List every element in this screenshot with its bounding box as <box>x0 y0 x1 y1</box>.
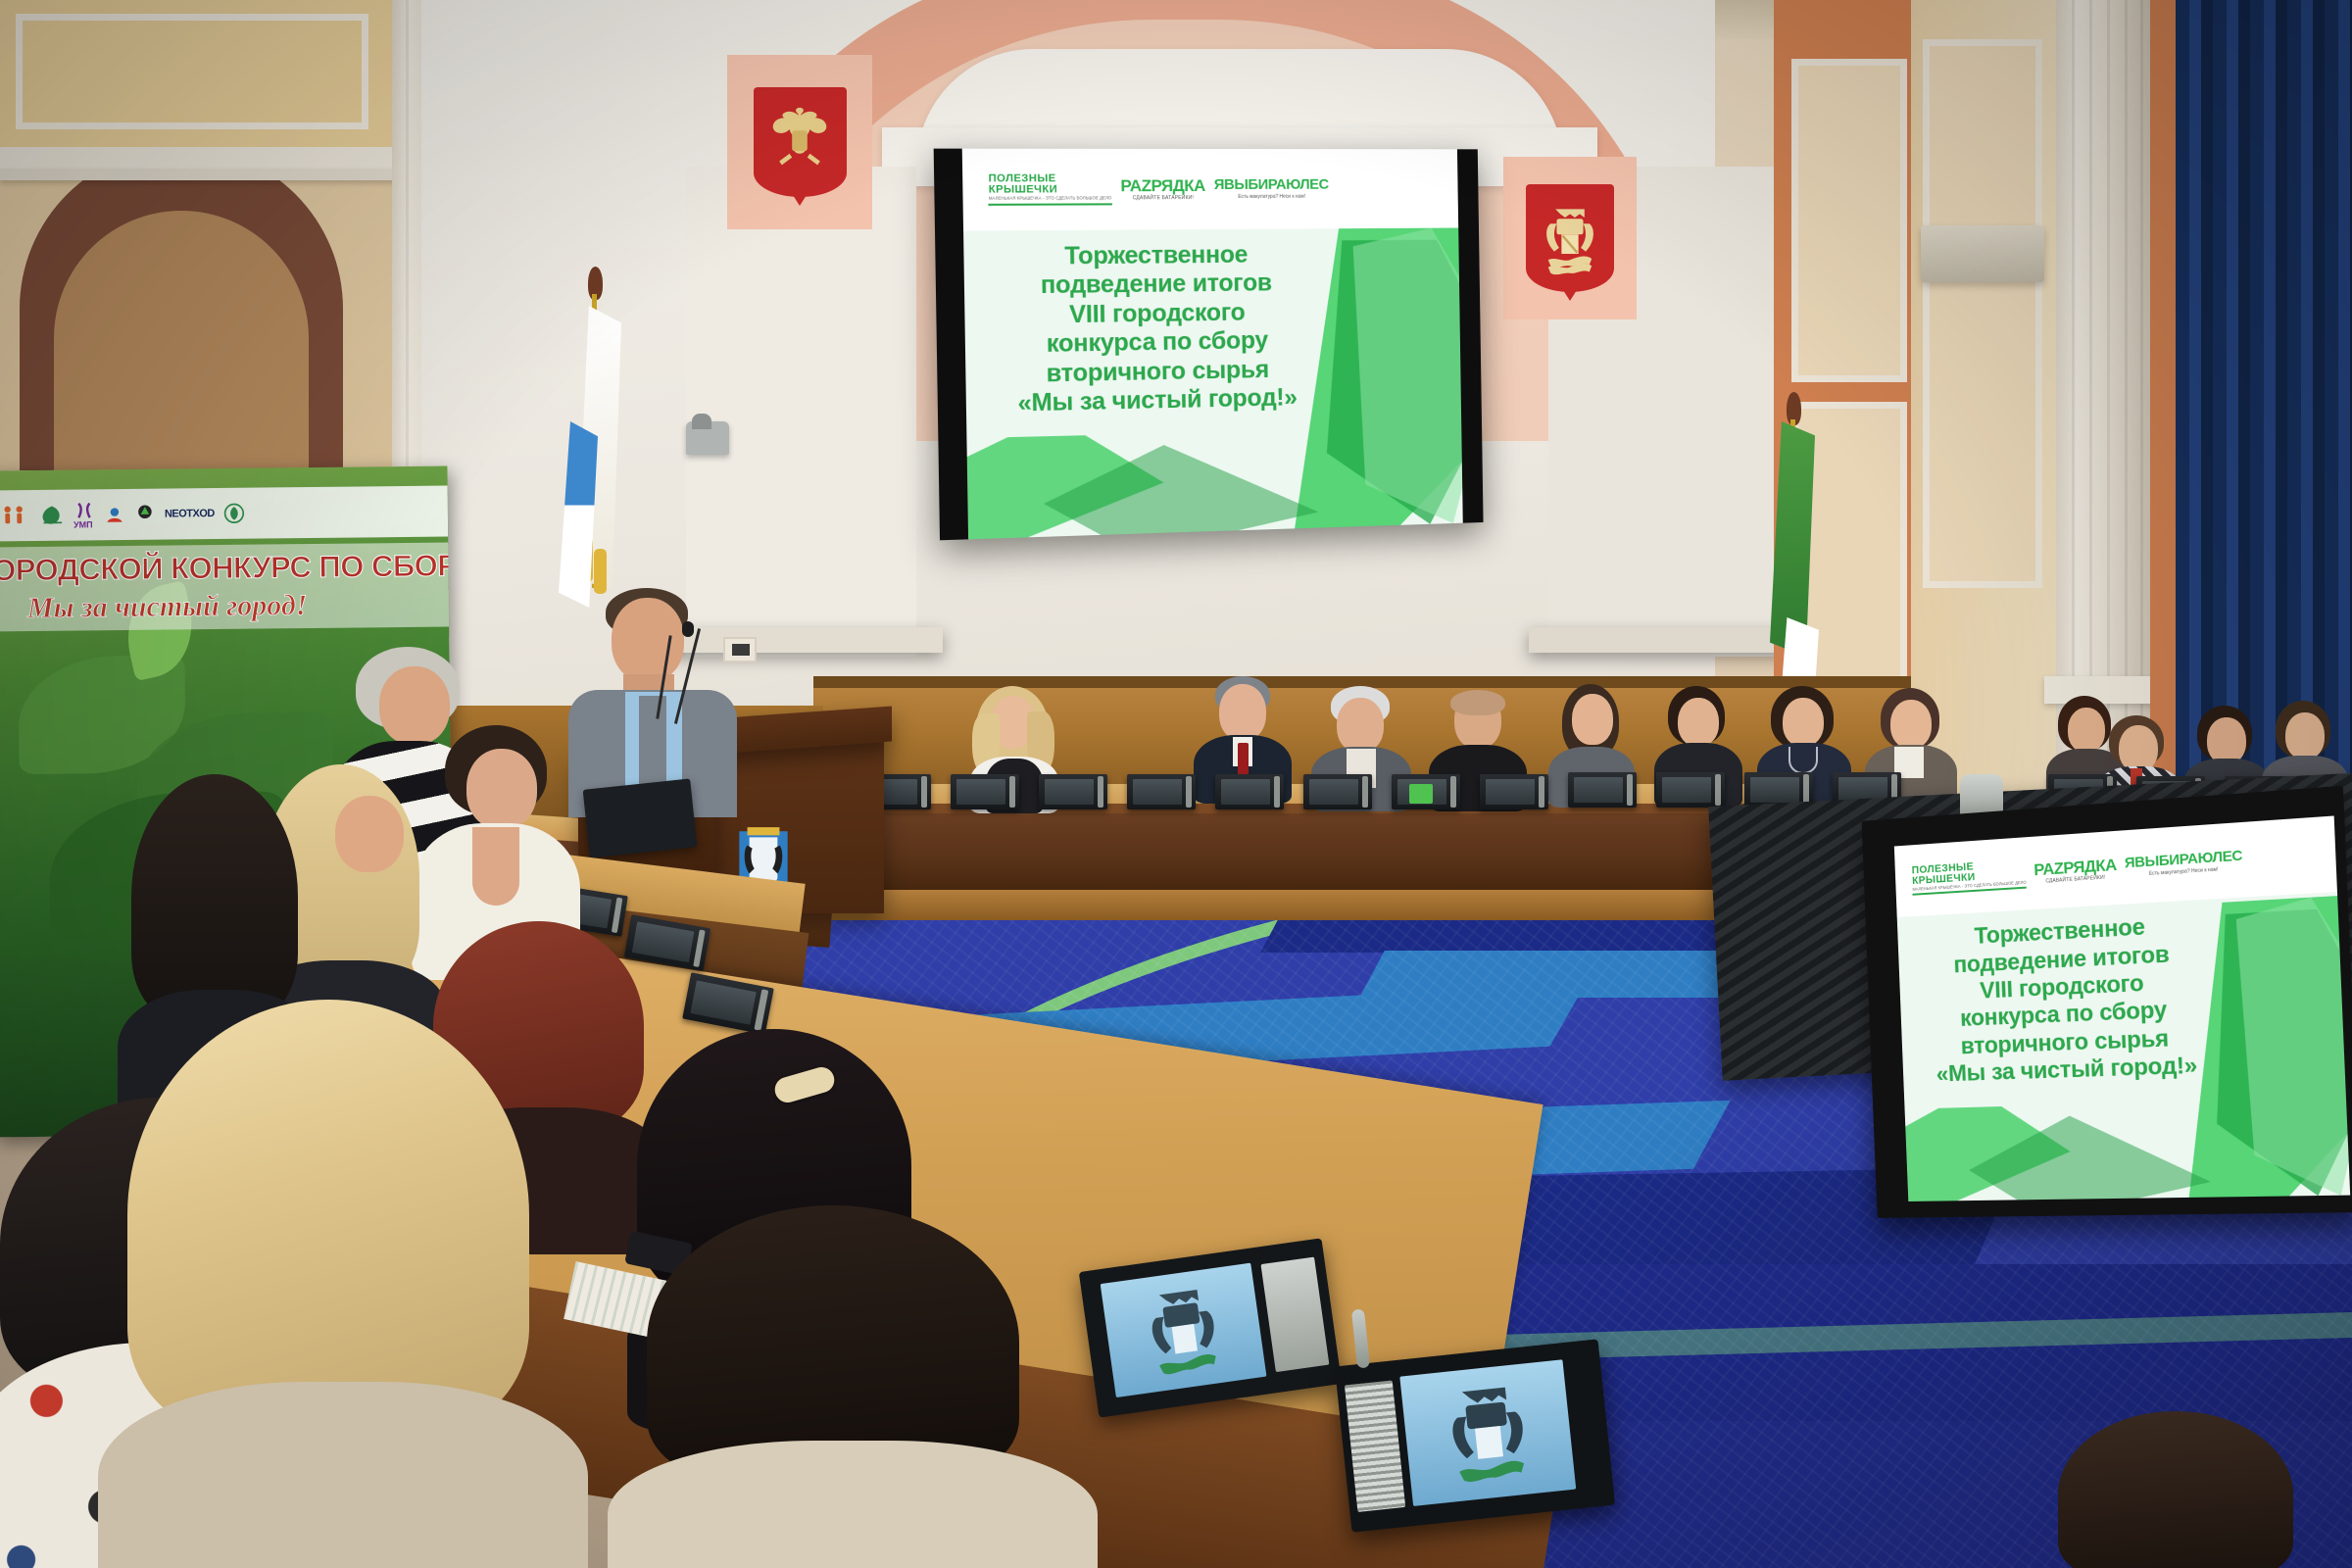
ledge-right <box>1529 627 1803 653</box>
slide-title-line-2: подведение итогов <box>995 269 1315 301</box>
wall-control-plate <box>723 637 757 662</box>
russian-federation-emblem-icon <box>754 87 847 197</box>
air-conditioner <box>1921 225 2044 282</box>
logo1-line2: КРЫШЕЧКИ <box>989 185 1112 196</box>
green-desk-item <box>1409 784 1433 804</box>
aux-logo3-line1: ЯВЫБИРАЮЛЕС <box>2125 849 2243 871</box>
delegate-console[interactable] <box>1039 774 1107 809</box>
slide-logo-row: ПОЛЕЗНЫЕ КРЫШЕЧКИ МАЛЕНЬКАЯ КРЫШЕЧКА - Э… <box>962 149 1458 231</box>
sponsor-logo-6-label: NEOTXOD <box>165 509 215 520</box>
wall-panel-right-3 <box>1923 39 2042 588</box>
audience-14 <box>2038 1411 2332 1568</box>
secondary-display: ПОЛЕЗНЫЕ КРЫШЕЧКИ МАЛЕНЬКАЯ КРЫШЕЧКА - Э… <box>1862 786 2352 1218</box>
audience-13 <box>627 1205 1078 1568</box>
slide-title: Торжественное подведение итогов VIII гор… <box>995 240 1317 419</box>
delegate-console[interactable] <box>1656 772 1725 808</box>
delegate-console[interactable] <box>1303 774 1372 809</box>
sponsor-logo-5-sakh <box>134 500 156 529</box>
aux-slide-title: Торжественное подведение итогов VIII гор… <box>1914 910 2216 1089</box>
logo-razryadka: РАZРЯДКА СДАВАЙТЕ БАТАРЕЙКИ! <box>1120 177 1205 201</box>
banner-sponsor-strip: УМП NEOTXOD <box>0 486 448 542</box>
novosibirsk-coat-of-arms-icon <box>1526 184 1614 292</box>
logo-poleznye-kryshechki: ПОЛЕЗНЫЕ КРЫШЕЧКИ МАЛЕНЬКАЯ КРЫШЕЧКА - Э… <box>988 173 1111 205</box>
sponsor-logo-2 <box>39 501 65 530</box>
sponsor-logo-1 <box>0 501 30 530</box>
audience-7 <box>108 1000 568 1568</box>
slide-title-line-6: «Мы за чистый город!» <box>997 383 1317 419</box>
state-emblem-plaque <box>727 55 872 229</box>
slide-green-graphic-bottom <box>966 426 1462 540</box>
sponsor-logo-6-neotkhod: NEOTXOD <box>165 499 215 529</box>
slide-title-line-3: VIII городского <box>996 297 1316 330</box>
cornice-left-2 <box>0 169 412 180</box>
wall-panel-right-1 <box>1791 59 1907 382</box>
sponsor-logo-4 <box>104 500 125 529</box>
banner-subhead: Мы за чистый город! <box>27 589 308 625</box>
speaker-at-podium <box>568 588 725 813</box>
necklace <box>1788 747 1818 774</box>
logo-ya-vybirayu-les: ЯВЫБИРАЮЛЕС Есть макулатура? Неси к нам! <box>1214 177 1329 200</box>
console-screen <box>1101 1263 1267 1397</box>
logo3-tagline: Есть макулатура? Неси к нам! <box>1238 195 1305 200</box>
left-wall-panel <box>16 14 368 129</box>
podium-laptop[interactable] <box>583 778 698 857</box>
screen-surround-left <box>686 167 916 657</box>
logo1-tagline: МАЛЕНЬКАЯ КРЫШЕЧКА - ЭТО СДЕЛАТЬ БОЛЬШОЕ… <box>989 197 1112 202</box>
banner-headline: ГОРОДСКОЙ КОНКУРС ПО СБОРУ ВТОРСЫРЬЯ <box>0 549 449 589</box>
conference-hall-photo: ПОЛЕЗНЫЕ КРЫШЕЧКИ МАЛЕНЬКАЯ КРЫШЕЧКА - Э… <box>0 0 2352 1568</box>
sponsor-logo-7 <box>223 499 245 528</box>
sponsor-logo-3-umnp: УМП <box>73 500 95 529</box>
delegate-console[interactable] <box>951 774 1019 809</box>
delegate-console[interactable] <box>1127 774 1196 809</box>
logo2-line1: РАZРЯДКА <box>1120 177 1205 194</box>
delegate-console[interactable] <box>1480 774 1548 809</box>
cornice-left <box>0 147 421 169</box>
slide-main: ПОЛЕЗНЫЕ КРЫШЕЧКИ МАЛЕНЬКАЯ КРЫШЕЧКА - Э… <box>934 149 1484 541</box>
sponsor-logo-3-label: УМП <box>73 520 95 529</box>
console-screen <box>1399 1359 1576 1505</box>
microphone-head-icon <box>682 621 694 637</box>
logo3-line1: ЯВЫБИРАЮЛЕС <box>1214 177 1329 192</box>
aux-slide-green-graphic-bottom <box>1905 1097 2351 1201</box>
delegate-console[interactable] <box>1215 774 1284 809</box>
slide-title-line-1: Торжественное <box>995 240 1315 271</box>
logo2-tagline: СДАВАЙТЕ БАТАРЕЙКИ! <box>1133 196 1194 201</box>
delegate-console[interactable] <box>1568 772 1637 808</box>
main-projection-screen: ПОЛЕЗНЫЕ КРЫШЕЧКИ МАЛЕНЬКАЯ КРЫШЕЧКА - Э… <box>934 149 1484 541</box>
city-emblem-plaque <box>1503 157 1637 319</box>
foreground-console-2[interactable] <box>1335 1339 1615 1532</box>
camera-lens-icon <box>692 414 711 429</box>
